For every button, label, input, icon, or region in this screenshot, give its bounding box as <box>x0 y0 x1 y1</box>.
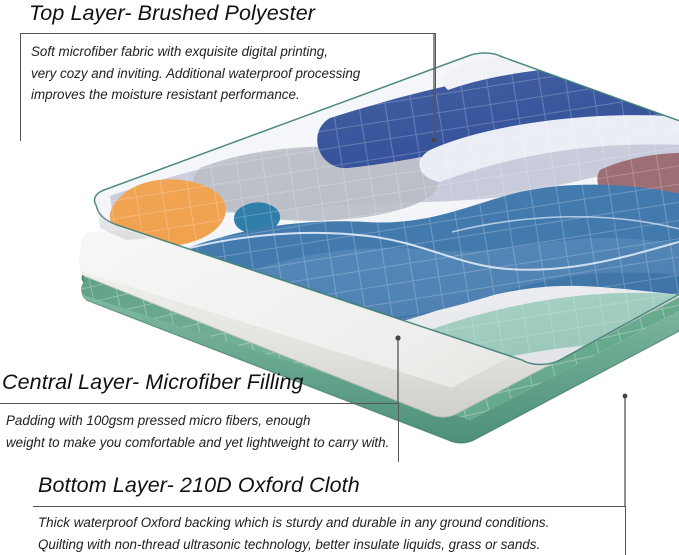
body-line: Soft microfiber fabric with exquisite di… <box>31 41 360 63</box>
body-top-layer: Soft microfiber fabric with exquisite di… <box>31 41 360 106</box>
body-line: Quilting with non-thread ultrasonic tech… <box>38 534 549 555</box>
heading-bottom-layer: Bottom Layer- 210D Oxford Cloth <box>38 473 360 498</box>
heading-central-layer: Central Layer- Microfiber Filling <box>2 370 304 395</box>
body-line: weight to make you comfortable and yet l… <box>6 432 389 454</box>
body-bottom-layer: Thick waterproof Oxford backing which is… <box>38 512 549 555</box>
body-line: improves the moisture resistant performa… <box>31 84 360 106</box>
body-line: Thick waterproof Oxford backing which is… <box>38 512 549 534</box>
leader-dot-central <box>395 335 400 340</box>
heading-top-layer: Top Layer- Brushed Polyester <box>29 1 315 26</box>
infographic-stage: Top Layer- Brushed Polyester Soft microf… <box>0 0 679 555</box>
body-central-layer: Padding with 100gsm pressed micro fibers… <box>6 410 389 453</box>
leader-dot-bottom <box>623 394 628 399</box>
body-line: very cozy and inviting. Additional water… <box>31 63 360 85</box>
body-line: Padding with 100gsm pressed micro fibers… <box>6 410 389 432</box>
